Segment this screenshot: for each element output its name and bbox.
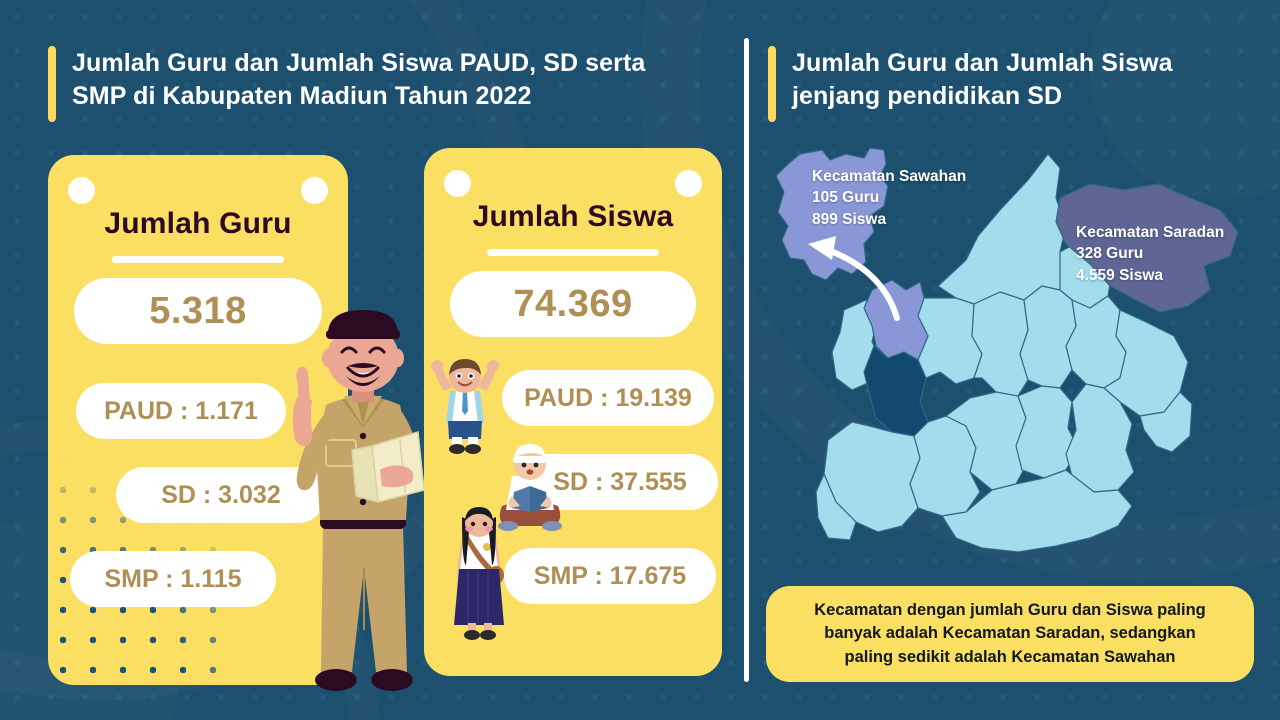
breakdown-pill-guru-paud: PAUD : 1.171: [76, 383, 286, 439]
map-region-east-central: [1066, 296, 1126, 388]
breakdown-label-guru-smp: SMP : 1.115: [104, 565, 241, 594]
map-region-mid-north-b: [972, 292, 1028, 396]
map-region-mid-north-c: [1020, 286, 1076, 388]
card-hole-left-siswa: [444, 170, 471, 197]
summary-note-box: Kecamatan dengan jumlah Guru dan Siswa p…: [766, 586, 1254, 682]
madiun-regency-map: Kecamatan Sawahan 105 Guru 899 Siswa Kec…: [760, 140, 1270, 570]
breakdown-pill-siswa-paud: PAUD : 19.139: [502, 370, 714, 426]
card-hole-right-siswa: [675, 170, 702, 197]
infographic-canvas: Jumlah Guru dan Jumlah Siswa PAUD, SD se…: [0, 0, 1280, 720]
left-panel-title: Jumlah Guru dan Jumlah Siswa PAUD, SD se…: [48, 46, 645, 122]
stat-card-guru: Jumlah Guru 5.318 PAUD : 1.171 SD : 3.03…: [48, 155, 348, 685]
right-panel-title-text: Jumlah Guru dan Jumlah Siswa jenjang pen…: [792, 46, 1173, 122]
stat-card-siswa: Jumlah Siswa 74.369 PAUD : 19.139 SD : 3…: [424, 148, 722, 676]
breakdown-label-siswa-paud: PAUD : 19.139: [524, 384, 692, 413]
breakdown-label-siswa-sd: SD : 37.555: [553, 468, 686, 497]
card-underline-siswa: [487, 249, 659, 256]
card-heading-guru: Jumlah Guru: [48, 207, 348, 241]
breakdown-pill-siswa-sd: SD : 37.555: [522, 454, 718, 510]
card-hole-right-guru: [301, 177, 328, 204]
title-accent-bar-right: [768, 46, 776, 122]
breakdown-pill-guru-sd: SD : 3.032: [116, 467, 326, 523]
breakdown-label-siswa-smp: SMP : 17.675: [534, 562, 686, 591]
breakdown-pill-guru-smp: SMP : 1.115: [70, 551, 276, 607]
breakdown-pill-siswa-smp: SMP : 17.675: [504, 548, 716, 604]
card-hole-left-guru: [68, 177, 95, 204]
card-total-value-guru: 5.318: [149, 290, 247, 333]
map-label-saradan: Kecamatan Saradan 328 Guru 4.559 Siswa: [1076, 222, 1224, 286]
card-total-pill-guru: 5.318: [74, 278, 322, 344]
breakdown-label-guru-sd: SD : 3.032: [161, 481, 281, 510]
card-underline-guru: [112, 256, 284, 263]
card-total-pill-siswa: 74.369: [450, 271, 696, 337]
title-accent-bar-left: [48, 46, 56, 122]
map-region-mid-north-a: [918, 298, 982, 384]
panel-divider: [744, 38, 749, 682]
map-label-sawahan: Kecamatan Sawahan 105 Guru 899 Siswa: [812, 166, 966, 230]
card-heading-siswa: Jumlah Siswa: [424, 200, 722, 234]
summary-note-text: Kecamatan dengan jumlah Guru dan Siswa p…: [814, 599, 1206, 669]
card-total-value-siswa: 74.369: [513, 283, 632, 326]
right-panel-title: Jumlah Guru dan Jumlah Siswa jenjang pen…: [768, 46, 1173, 122]
breakdown-label-guru-paud: PAUD : 1.171: [104, 397, 258, 426]
left-panel-title-text: Jumlah Guru dan Jumlah Siswa PAUD, SD se…: [72, 46, 645, 122]
